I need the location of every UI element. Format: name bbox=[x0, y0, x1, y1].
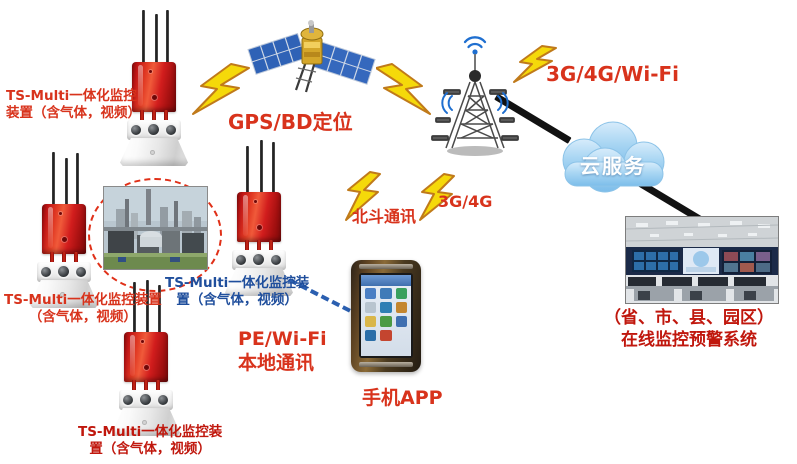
pda-top-bumper bbox=[359, 264, 413, 269]
pda-status-bar bbox=[361, 275, 411, 286]
label-device-middle: TS-Multi一体化监控装 置（含气体，视频） bbox=[165, 275, 309, 310]
cloud-service-label: 云服务 bbox=[541, 150, 685, 179]
label-gps-positioning: GPS/BD定位 bbox=[228, 110, 353, 136]
label-device-bottom: TS-Multi一体化监控装 置（含气体，视频） bbox=[78, 424, 222, 459]
antenna bbox=[166, 10, 169, 68]
industrial-plant-photo bbox=[103, 186, 208, 270]
sensor-port bbox=[166, 125, 176, 135]
label-control-center: （省、市、县、园区） 在线监控预警系统 bbox=[604, 308, 774, 352]
pda-screen[interactable] bbox=[359, 273, 413, 358]
label-phone-app: 手机APP bbox=[362, 386, 443, 410]
sensor-port bbox=[41, 267, 51, 277]
app-icon[interactable] bbox=[396, 302, 407, 313]
antenna bbox=[65, 158, 68, 210]
diagram-canvas: 云服务 bbox=[0, 0, 797, 464]
sensor-port bbox=[271, 255, 281, 265]
antenna bbox=[76, 153, 79, 210]
device-indicator bbox=[254, 200, 257, 203]
app-icon[interactable] bbox=[380, 330, 391, 341]
bolt-satellite-to-tower bbox=[376, 62, 448, 118]
sensor-port bbox=[236, 255, 246, 265]
device-indicator bbox=[141, 340, 144, 343]
device-body bbox=[124, 332, 168, 382]
device-body bbox=[42, 204, 86, 254]
app-icon[interactable] bbox=[380, 302, 391, 313]
sensor-port bbox=[131, 125, 141, 135]
device-body bbox=[237, 192, 281, 242]
device-screw bbox=[150, 150, 155, 155]
device-indicator bbox=[257, 225, 262, 230]
device-collar bbox=[127, 120, 181, 140]
device-indicator bbox=[59, 212, 62, 215]
app-icon[interactable] bbox=[396, 288, 407, 299]
pda-screen-content bbox=[361, 275, 411, 356]
device-collar bbox=[37, 262, 91, 282]
app-icon[interactable] bbox=[365, 302, 376, 313]
device-indicator bbox=[149, 70, 152, 73]
app-icon[interactable] bbox=[396, 330, 407, 341]
app-icon[interactable] bbox=[380, 288, 391, 299]
sensor-port bbox=[253, 254, 264, 265]
app-icon[interactable] bbox=[380, 316, 391, 327]
sensor-port bbox=[140, 394, 151, 405]
label-3g4g: 3G/4G bbox=[438, 192, 492, 212]
device-indicator bbox=[62, 237, 67, 242]
sensor-port bbox=[76, 267, 86, 277]
cloud-service-node: 云服务 bbox=[541, 118, 685, 200]
label-device-top: TS-Multi一体化监控 装置（含气体，视频） bbox=[6, 88, 141, 123]
monitoring-control-room-photo bbox=[625, 216, 779, 304]
rugged-handheld-tablet[interactable] bbox=[351, 260, 421, 372]
antenna bbox=[272, 142, 275, 198]
app-icon[interactable] bbox=[396, 316, 407, 327]
label-beidou-comm: 北斗通讯 bbox=[352, 207, 416, 227]
antenna bbox=[142, 10, 145, 68]
label-3g4g-wifi: 3G/4G/Wi-Fi bbox=[546, 62, 679, 88]
sensor-port bbox=[148, 124, 159, 135]
label-local-communication: PE/Wi-Fi 本地通讯 bbox=[238, 327, 327, 376]
antenna bbox=[52, 152, 55, 210]
antenna bbox=[260, 140, 263, 198]
pda-app-grid[interactable] bbox=[365, 288, 407, 341]
antenna bbox=[155, 14, 158, 68]
device-indicator bbox=[152, 95, 157, 100]
pda-bottom-bumper bbox=[359, 362, 413, 367]
sensor-port bbox=[158, 395, 168, 405]
app-icon[interactable] bbox=[365, 288, 376, 299]
device-collar bbox=[119, 390, 173, 410]
satellite-icon bbox=[246, 12, 378, 98]
antenna bbox=[246, 146, 249, 198]
device-indicator bbox=[144, 365, 149, 370]
sensor-port bbox=[123, 395, 133, 405]
device-collar bbox=[232, 250, 286, 270]
sensor-port bbox=[58, 266, 69, 277]
app-icon[interactable] bbox=[365, 316, 376, 327]
label-device-left: TS-Multi一体化监控装置 （含气体，视频） bbox=[4, 292, 162, 327]
app-icon[interactable] bbox=[365, 330, 376, 341]
